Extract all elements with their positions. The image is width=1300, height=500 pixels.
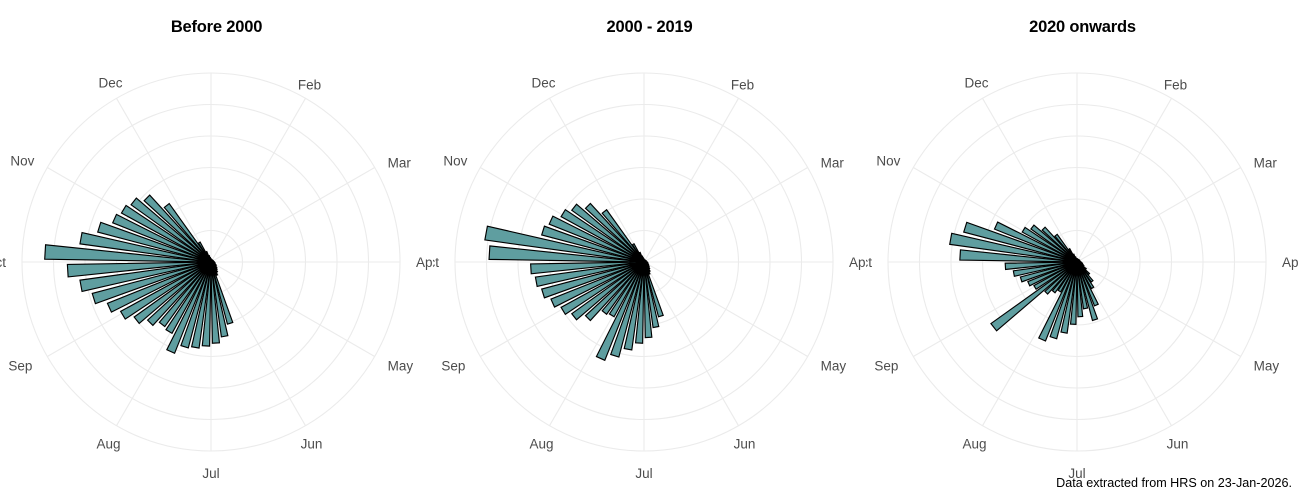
panel-2000-2019: 2000 - 2019 FebMarAprMayJunJulAugSepOctN… — [433, 0, 866, 500]
bar-series — [485, 203, 663, 360]
month-label-jun: Jun — [1167, 437, 1189, 452]
polar-chart-svg: FebMarAprMayJunJulAugSepOctNovDec — [0, 0, 433, 500]
figure-root: Before 2000 FebMarAprMayJunJulAugSepOctN… — [0, 0, 1300, 500]
polar-chart-svg: FebMarAprMayJunJulAugSepOctNovDec — [433, 0, 866, 500]
grid-spoke — [644, 168, 808, 263]
panel-before-2000: Before 2000 FebMarAprMayJunJulAugSepOctN… — [0, 0, 433, 500]
figure-caption: Data extracted from HRS on 23-Jan-2026. — [1056, 476, 1292, 490]
month-label-dec: Dec — [98, 75, 122, 90]
month-label-dec: Dec — [964, 75, 988, 90]
month-label-nov: Nov — [876, 154, 900, 169]
grid-spoke — [211, 98, 306, 262]
month-label-aug: Aug — [96, 437, 120, 452]
month-label-dec: Dec — [531, 75, 555, 90]
grid-spoke — [644, 262, 808, 357]
month-label-oct: Oct — [0, 255, 6, 270]
grid-spoke — [1077, 262, 1241, 357]
month-label-apr: Apr — [416, 255, 433, 270]
month-label-sep: Sep — [8, 359, 32, 374]
polar-plot-area: FebMarAprMayJunJulAugSepOctNovDec — [433, 0, 866, 500]
grid-spoke — [211, 262, 375, 357]
month-label-feb: Feb — [1164, 77, 1187, 92]
grid-spoke — [1077, 168, 1241, 263]
month-label-nov: Nov — [10, 154, 34, 169]
grid-spoke — [211, 168, 375, 263]
month-label-mar: Mar — [388, 156, 412, 171]
month-label-nov: Nov — [443, 154, 467, 169]
panel-2020-onwards: 2020 onwards FebMarAprMayJunJulAugSepOct… — [866, 0, 1299, 500]
month-label-jul: Jul — [635, 466, 652, 481]
month-label-aug: Aug — [962, 437, 986, 452]
month-label-apr: Apr — [849, 255, 866, 270]
polar-grid — [455, 73, 833, 451]
month-label-jun: Jun — [734, 437, 756, 452]
grid-spoke — [1077, 98, 1172, 262]
month-label-feb: Feb — [731, 77, 754, 92]
bar-series — [45, 195, 233, 353]
month-label-mar: Mar — [1254, 156, 1278, 171]
month-label-may: May — [821, 359, 847, 374]
month-label-sep: Sep — [874, 359, 898, 374]
grid-spoke — [211, 262, 306, 426]
month-label-mar: Mar — [821, 156, 845, 171]
month-label-apr: Apr — [1282, 255, 1299, 270]
month-label-feb: Feb — [298, 77, 321, 92]
polar-plot-area: FebMarAprMayJunJulAugSepOctNovDec — [866, 0, 1299, 500]
month-label-oct: Oct — [866, 255, 872, 270]
polar-chart-svg: FebMarAprMayJunJulAugSepOctNovDec — [866, 0, 1299, 500]
month-label-may: May — [388, 359, 414, 374]
grid-spoke — [644, 98, 739, 262]
month-label-jun: Jun — [301, 437, 323, 452]
polar-grid — [22, 73, 400, 451]
month-label-oct: Oct — [433, 255, 439, 270]
grid-spoke — [644, 262, 739, 426]
polar-grid — [888, 73, 1266, 451]
month-label-sep: Sep — [441, 359, 465, 374]
polar-plot-area: FebMarAprMayJunJulAugSepOctNovDec — [0, 0, 433, 500]
month-label-jul: Jul — [202, 466, 219, 481]
month-label-aug: Aug — [529, 437, 553, 452]
month-label-may: May — [1254, 359, 1280, 374]
